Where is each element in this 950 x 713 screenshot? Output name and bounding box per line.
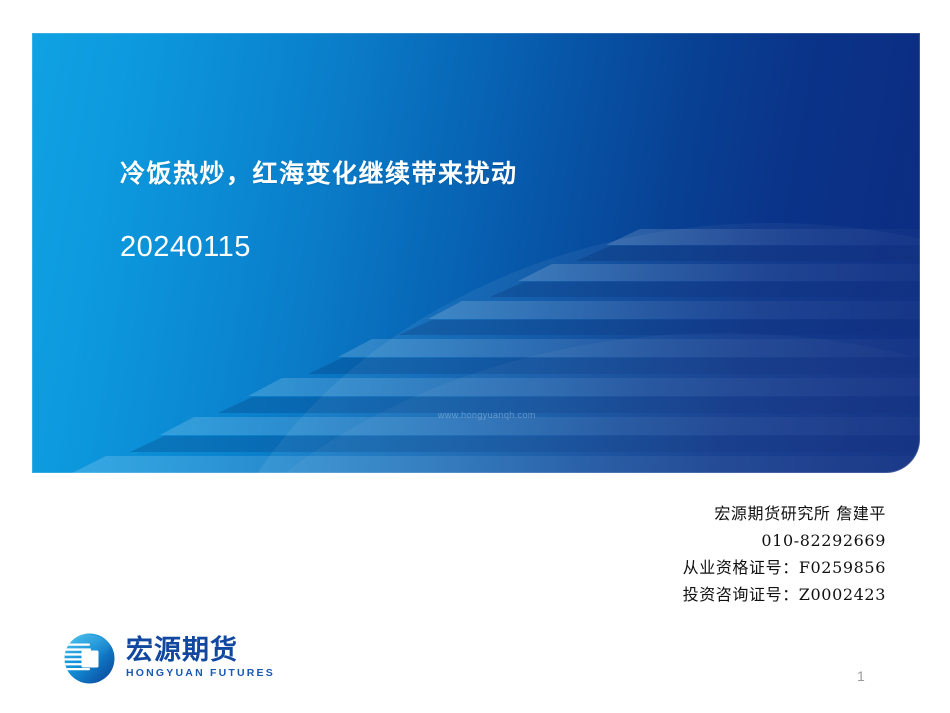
company-logo: 宏源期货 HONGYUAN FUTURES: [62, 629, 275, 687]
page-number: 1: [857, 668, 865, 684]
site-watermark: www.hongyuanqh.com: [438, 410, 536, 420]
hongyuan-circle-mark-icon: [62, 631, 117, 686]
contact-line-phone: 010-82292669: [466, 527, 886, 554]
contact-line-advisory-license: 投资咨询证号：Z0002423: [466, 581, 886, 608]
decorative-stripe: [248, 378, 920, 396]
page-title: 冷饭热炒，红海变化继续带来扰动: [120, 158, 860, 191]
decorative-stripe: [518, 264, 920, 281]
decorative-stripe: [398, 320, 920, 335]
decorative-stripe: [130, 436, 920, 452]
logo-wordmark: 宏源期货 HONGYUAN FUTURES: [126, 634, 275, 682]
logo-english-name: HONGYUAN FUTURES: [126, 666, 275, 682]
presentation-slide: www.hongyuanqh.com 冷饭热炒，红海变化继续带来扰动 20240…: [0, 0, 950, 713]
title-slide-hero-panel: www.hongyuanqh.com 冷饭热炒，红海变化继续带来扰动 20240…: [32, 33, 920, 473]
logo-chinese-name: 宏源期货: [126, 636, 275, 665]
decorative-stripe: [308, 358, 920, 374]
decorative-stripe: [490, 282, 920, 297]
title-block: 冷饭热炒，红海变化继续带来扰动 20240115: [120, 158, 860, 262]
decorative-stripe: [160, 417, 920, 435]
slide-date: 20240115: [120, 233, 860, 262]
decorative-stripe: [428, 301, 920, 319]
decorative-stripe: [72, 456, 920, 473]
decorative-stripe: [218, 397, 920, 413]
decorative-stripe: [338, 339, 920, 357]
author-contact-block: 宏源期货研究所 詹建平 010-82292669 从业资格证号：F0259856…: [466, 500, 886, 608]
contact-line-department: 宏源期货研究所 詹建平: [466, 500, 886, 527]
contact-line-practice-license: 从业资格证号：F0259856: [466, 554, 886, 581]
decorative-arc-secondary: [92, 333, 920, 473]
